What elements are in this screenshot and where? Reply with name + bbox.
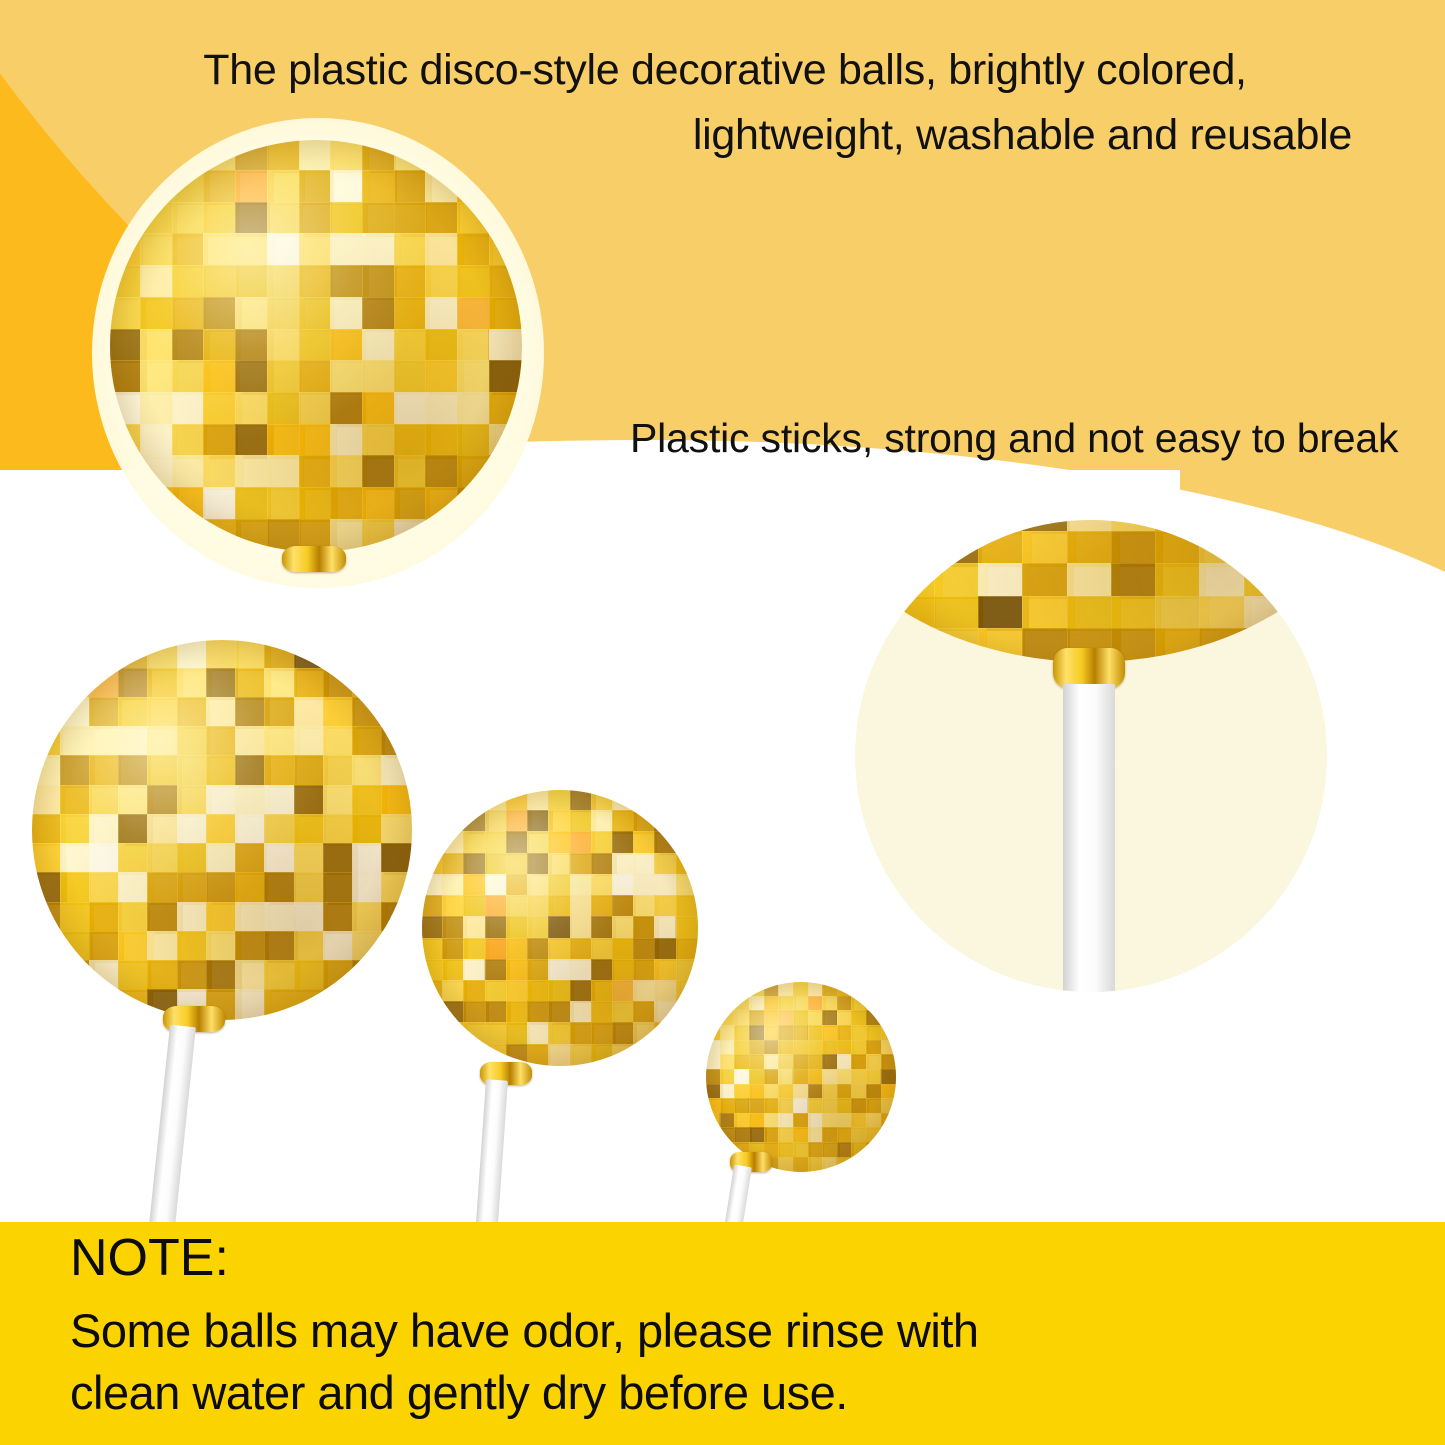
mirror-tile-grid (32, 640, 412, 1020)
product-infographic-poster: The plastic disco-style decorative balls… (0, 0, 1445, 1445)
inset-ball-base (855, 520, 1327, 662)
hero-ball-collar (282, 546, 346, 572)
ball-medium (422, 790, 698, 1066)
note-body: Some balls may have odor, please rinse w… (70, 1300, 1390, 1424)
ball-small (706, 982, 896, 1172)
note-line-1: Some balls may have odor, please rinse w… (70, 1300, 1390, 1362)
mirror-tile-grid (706, 982, 896, 1172)
note-title: NOTE: (70, 1232, 229, 1284)
mirror-tile-grid (855, 520, 1327, 662)
inset-stick (1063, 684, 1115, 992)
inset-collar (1053, 648, 1125, 688)
mirror-tile-grid (110, 140, 522, 552)
feature-callout-text: Plastic sticks, strong and not easy to b… (630, 405, 1420, 471)
note-panel: NOTE: Some balls may have odor, please r… (0, 1222, 1445, 1445)
stick-closeup-inset (855, 520, 1327, 992)
headline-line-1: The plastic disco-style decorative balls… (60, 38, 1390, 103)
note-line-2: clean water and gently dry before use. (70, 1362, 1390, 1424)
ball-large (32, 640, 412, 1020)
mirror-tile-grid (422, 790, 698, 1066)
hero-ball-top-left (110, 140, 522, 552)
